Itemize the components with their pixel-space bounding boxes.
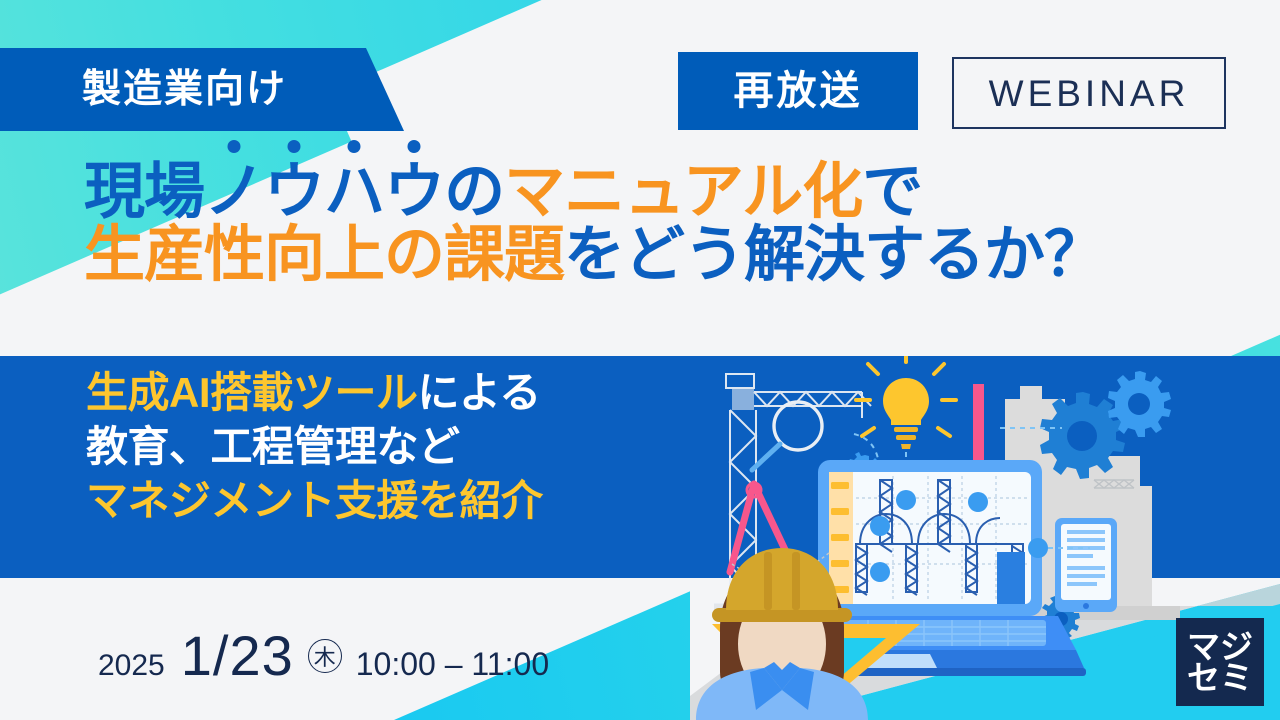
schedule-time: 10:00 – 11:00 <box>356 646 549 683</box>
title-line1-part1: 現場 <box>84 157 204 225</box>
title-line1-part3: マニュアル化 <box>504 157 862 225</box>
webinar-badge: WEBINAR <box>952 57 1226 129</box>
rebroadcast-badge: 再放送 <box>678 52 918 130</box>
title-line1-part2: の <box>444 157 504 225</box>
pink-bar <box>973 384 984 466</box>
webinar-badge-label: WEBINAR <box>989 75 1190 112</box>
title-line1-part4: で <box>862 157 922 225</box>
title-line-2: 生産性向上の課題をどう解決するか？ <box>0 223 1280 286</box>
rebroadcast-badge-label: 再放送 <box>734 71 863 111</box>
subtitle: 生成AI搭載ツールによる 教育、工程管理など マネジメント支援を紹介 <box>0 366 700 527</box>
emphasis-char: ウ <box>384 160 444 223</box>
schedule-year: 2025 <box>98 649 165 683</box>
page-title: 現場ノウハウのマニュアル化で 生産性向上の課題をどう解決するか？ <box>0 160 1280 287</box>
audience-ribbon: 製造業向け <box>0 48 404 131</box>
subtitle-line1-rest: による <box>418 369 541 416</box>
title-line1-emphasis: ノウハウ <box>204 157 444 225</box>
logo-row-1: マジ <box>1187 631 1253 662</box>
majisemi-logo[interactable]: マジ セミ <box>1176 618 1264 706</box>
schedule: 2025 1/23 木 10:00 – 11:00 <box>98 628 549 684</box>
subtitle-line-1: 生成AI搭載ツールによる <box>86 366 700 420</box>
schedule-day-of-week: 木 <box>308 639 342 673</box>
audience-ribbon-label: 製造業向け <box>82 70 287 109</box>
title-line2-part1: 生産性向上の課題 <box>84 220 564 288</box>
emphasis-char: ハ <box>324 160 384 223</box>
subtitle-line-3: マネジメント支援を紹介 <box>86 474 700 528</box>
chart-bar <box>997 552 1025 604</box>
title-line-1: 現場ノウハウのマニュアル化で <box>0 160 1280 223</box>
webinar-banner: 製造業向け 再放送 WEBINAR 現場ノウハウのマニュアル化で 生産性向上の課… <box>0 0 1280 720</box>
schedule-month-day: 1/23 <box>181 628 294 684</box>
tablet-document <box>1055 518 1117 612</box>
emphasis-char: ウ <box>264 160 324 223</box>
subtitle-line-2: 教育、工程管理など <box>86 420 700 474</box>
subtitle-line1-highlight: 生成AI搭載ツール <box>86 369 418 416</box>
logo-row-2: セミ <box>1187 662 1253 693</box>
emphasis-char: ノ <box>204 160 264 223</box>
title-line2-part2: をどう解決するか？ <box>564 220 1104 288</box>
